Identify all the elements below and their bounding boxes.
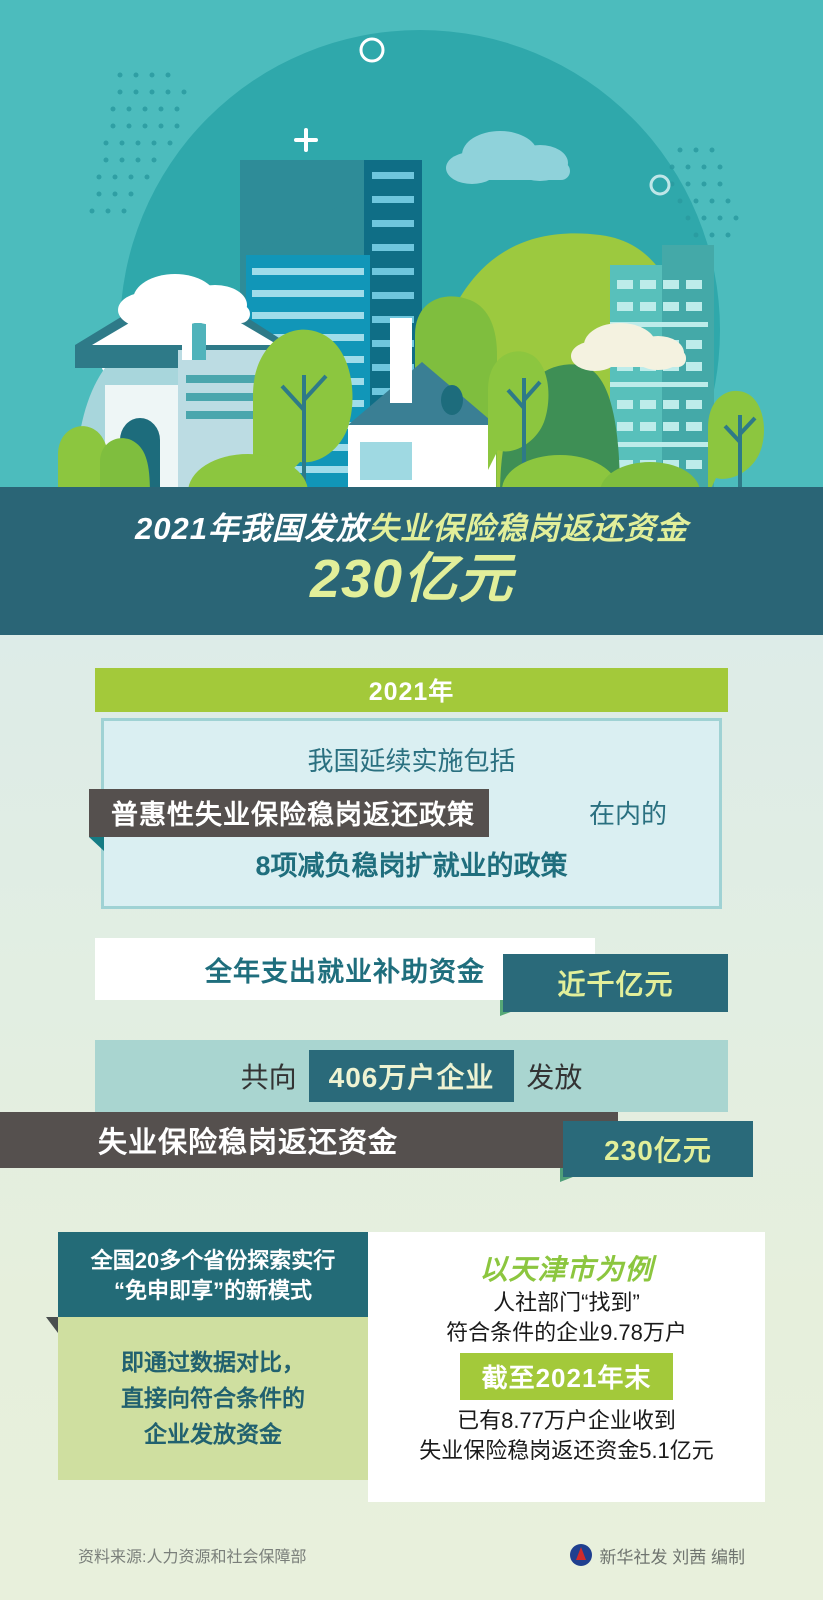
- refund-value: 230亿元: [604, 1129, 712, 1169]
- tianjin-date-chip: 截至2021年末: [460, 1353, 674, 1400]
- city-skyline-icon: [0, 0, 823, 495]
- refund-value-panel: 230亿元: [563, 1121, 753, 1177]
- tianjin-line-3: 已有8.77万户企业收到: [457, 1406, 676, 1436]
- policy-after-ribbon: 在内的: [589, 789, 667, 837]
- subsidy-value: 近千亿元: [557, 963, 673, 1003]
- year-banner: 2021年: [95, 668, 728, 712]
- block-subsidy: 全年支出就业补助资金 近千亿元: [0, 938, 823, 1012]
- hero-illustration: [0, 0, 823, 495]
- refund-suffix: 发放: [526, 1056, 582, 1096]
- title-line-2: 230亿元: [310, 550, 513, 609]
- block-policy: 2021年 我国延续实施包括 普惠性失业保险稳岗返还政策 在内的 8项减负稳岗扩…: [0, 668, 823, 909]
- policy-box: 我国延续实施包括 普惠性失业保险稳岗返还政策 在内的 8项减负稳岗扩就业的政策: [101, 718, 722, 909]
- infographic-page: 2021年我国发放失业保险稳岗返还资金 230亿元 2021年 我国延续实施包括…: [0, 0, 823, 1600]
- tianjin-panel: 以天津市为例 人社部门“找到” 符合条件的企业9.78万户 截至2021年末 已…: [368, 1232, 765, 1502]
- tianjin-line-4: 失业保险稳岗返还资金5.1亿元: [419, 1436, 714, 1466]
- title-line-1: 2021年我国发放失业保险稳岗返还资金: [135, 513, 688, 544]
- tianjin-title: 以天津市为例: [479, 1248, 653, 1288]
- provinces-header-line-1: 全国20多个省份探索实行: [68, 1246, 358, 1276]
- source-text: 资料来源:人力资源和社会保障部: [78, 1543, 306, 1567]
- policy-ribbon-row: 普惠性失业保险稳岗返还政策 在内的: [104, 789, 719, 841]
- policy-ribbon-label: 普惠性失业保险稳岗返还政策: [89, 789, 489, 837]
- block-refund: 共向 406万户企业 发放 失业保险稳岗返还资金 230亿元: [0, 1040, 823, 1170]
- title-line-1-prefix: 2021年我国发放: [135, 511, 368, 546]
- refund-ribbon: 失业保险稳岗返还资金: [0, 1112, 618, 1168]
- provinces-header: 全国20多个省份探索实行 “免申即享”的新模式: [58, 1232, 368, 1317]
- refund-prefix: 共向: [241, 1056, 297, 1096]
- provinces-header-fold: [46, 1317, 58, 1333]
- block-examples: 全国20多个省份探索实行 “免申即享”的新模式 即通过数据对比， 直接向符合条件…: [58, 1232, 765, 1502]
- example-left-column: 全国20多个省份探索实行 “免申即享”的新模式 即通过数据对比， 直接向符合条件…: [58, 1232, 368, 1502]
- provinces-body-line-3: 企业发放资金: [144, 1420, 282, 1450]
- title-line-1-highlight: 失业保险稳岗返还资金: [368, 511, 688, 546]
- subsidy-value-panel: 近千亿元: [503, 954, 728, 1012]
- footer: 资料来源:人力资源和社会保障部 新华社发 刘茜 编制: [0, 1535, 823, 1575]
- tianjin-line-1: 人社部门“找到”: [493, 1288, 640, 1318]
- provinces-header-line-2: “免申即享”的新模式: [68, 1276, 358, 1306]
- credit-text: 新华社发 刘茜 编制: [600, 1543, 745, 1568]
- policy-line-1: 我国延续实施包括: [104, 743, 719, 781]
- refund-ribbon-label: 失业保险稳岗返还资金: [0, 1119, 398, 1161]
- policy-ribbon-fold: [89, 837, 104, 851]
- provinces-body-line-1: 即通过数据对比，: [121, 1348, 305, 1378]
- policy-line-3: 8项减负稳岗扩就业的政策: [104, 847, 719, 886]
- refund-enterprise-count: 406万户企业: [309, 1050, 515, 1102]
- provinces-body: 即通过数据对比， 直接向符合条件的 企业发放资金: [58, 1317, 368, 1480]
- subsidy-label: 全年支出就业补助资金: [205, 950, 485, 989]
- refund-enterprises-row: 共向 406万户企业 发放: [95, 1040, 728, 1112]
- provinces-body-line-2: 直接向符合条件的: [121, 1384, 305, 1414]
- credit-block: 新华社发 刘茜 编制: [570, 1543, 745, 1568]
- xinhua-logo-icon: [570, 1544, 592, 1566]
- title-band: 2021年我国发放失业保险稳岗返还资金 230亿元: [0, 487, 823, 635]
- tianjin-line-2: 符合条件的企业9.78万户: [446, 1318, 687, 1348]
